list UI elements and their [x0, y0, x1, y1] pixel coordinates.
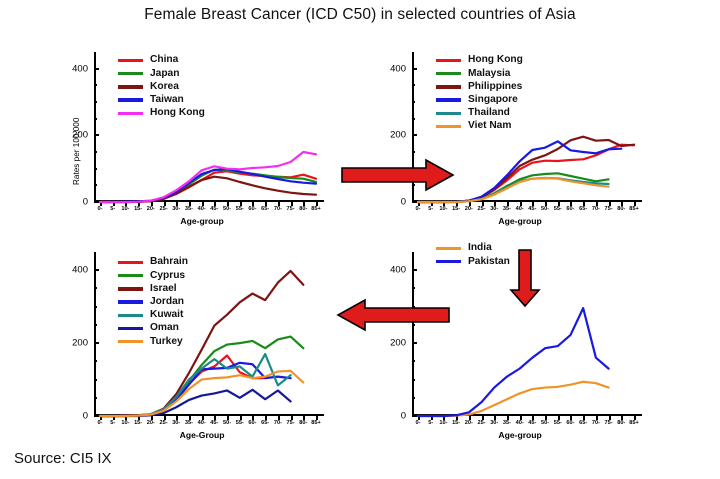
arrow-left-bottom-icon	[336, 298, 451, 332]
series-line	[100, 390, 291, 416]
legend-swatch	[118, 72, 143, 75]
chart-panel-southeast-asia: 02004000-5-10-15-20-25-30-35-40-45-50-55…	[412, 52, 642, 220]
legend-swatch	[436, 260, 461, 263]
legend-item: India	[436, 242, 510, 255]
x-tick-label: 50-	[223, 420, 231, 426]
x-tick-label: 55-	[236, 420, 244, 426]
legend-swatch	[436, 112, 461, 115]
x-tick-label: 65-	[261, 420, 269, 426]
x-tick-label: 45-	[528, 206, 536, 212]
x-tick-label: 30-	[172, 206, 180, 212]
x-tick-label: 60-	[248, 206, 256, 212]
legend-label: Jordan	[150, 297, 184, 307]
x-tick-label: 55-	[554, 206, 562, 212]
y-tick-label: 200	[72, 338, 94, 349]
x-tick-label: 85+	[311, 206, 321, 212]
x-tick-label: 70-	[274, 206, 282, 212]
x-tick-label: 70-	[274, 420, 282, 426]
legend-swatch	[436, 59, 461, 62]
x-tick-label: 65-	[261, 206, 269, 212]
x-tick-label: 30-	[490, 206, 498, 212]
y-tick-label: 0	[83, 411, 94, 422]
legend-swatch	[118, 327, 143, 330]
legend-swatch	[118, 59, 143, 62]
x-tick-label: 15-	[452, 206, 460, 212]
legend-item: Taiwan	[118, 94, 205, 107]
legend-label: Oman	[150, 323, 179, 333]
legend-item: Pakistan	[436, 255, 510, 268]
legend-swatch	[118, 314, 143, 317]
x-tick-label: 40-	[198, 206, 206, 212]
x-tick-label: 40-	[516, 420, 524, 426]
x-tick-label: 45-	[528, 420, 536, 426]
legend-label: Korea	[150, 82, 179, 92]
series-line	[100, 356, 265, 416]
chart-panel-east-asia: 02004000-5-10-15-20-25-30-35-40-45-50-55…	[94, 52, 324, 220]
source-note: Source: CI5 IX	[14, 450, 112, 467]
x-tick-label: 10-	[121, 206, 129, 212]
x-tick-label: 55-	[554, 420, 562, 426]
series-line	[100, 170, 316, 202]
series-line	[100, 171, 316, 202]
x-tick-label: 30-	[490, 420, 498, 426]
y-tick-label: 400	[72, 63, 94, 74]
y-tick-label: 0	[401, 411, 412, 422]
y-tick-label: 0	[401, 197, 412, 208]
x-tick-label: 25-	[477, 206, 485, 212]
legend-swatch	[118, 98, 143, 101]
x-tick-label: 20-	[147, 206, 155, 212]
x-tick-label: 70-	[592, 420, 600, 426]
legend-label: Malaysia	[468, 69, 510, 79]
legend-label: Taiwan	[150, 95, 184, 105]
x-tick-label: 0-	[98, 420, 103, 426]
legend-label: Hong Kong	[468, 55, 523, 65]
x-tick-label: 20-	[465, 206, 473, 212]
chart-legend: ChinaJapanKoreaTaiwanHong Kong	[118, 54, 205, 120]
x-tick-label: 40-	[198, 420, 206, 426]
x-tick-label: 35-	[185, 206, 193, 212]
legend-item: Turkey	[118, 335, 188, 348]
x-axis-label: Age-group	[498, 216, 541, 226]
legend-swatch	[118, 85, 143, 88]
legend-item: Hong Kong	[118, 107, 205, 120]
page-title: Female Breast Cancer (ICD C50) in select…	[0, 6, 720, 24]
y-tick-label: 0	[83, 197, 94, 208]
legend-item: Kuwait	[118, 309, 188, 322]
x-tick-label: 0-	[416, 420, 421, 426]
legend-item: Cyprus	[118, 269, 188, 282]
legend-swatch	[118, 340, 143, 343]
legend-swatch	[436, 125, 461, 128]
x-axis-label: Age-group	[498, 430, 541, 440]
legend-swatch	[118, 300, 143, 303]
x-tick-label: 0-	[416, 206, 421, 212]
x-tick-label: 10-	[439, 206, 447, 212]
y-tick-label: 200	[390, 130, 412, 141]
x-tick-label: 80-	[617, 206, 625, 212]
series-line	[418, 382, 609, 416]
x-tick-label: 85+	[311, 420, 321, 426]
x-tick-label: 25-	[159, 420, 167, 426]
legend-label: Japan	[150, 69, 179, 79]
x-tick-label: 60-	[566, 420, 574, 426]
legend-item: Thailand	[436, 107, 523, 120]
legend-swatch	[436, 72, 461, 75]
x-tick-label: 20-	[147, 420, 155, 426]
x-tick-label: 65-	[579, 420, 587, 426]
legend-label: Turkey	[150, 337, 183, 347]
x-tick-label: 75-	[605, 420, 613, 426]
x-axis-label: Age-Group	[180, 430, 225, 440]
legend-label: Bahrain	[150, 257, 188, 267]
x-tick-label: 60-	[248, 420, 256, 426]
y-axis-label: Rates per 100,000	[72, 118, 81, 185]
legend-label: Thailand	[468, 108, 510, 118]
chart-panel-west-asia: 02004000-5-10-15-20-25-30-35-40-45-50-55…	[94, 252, 324, 434]
slide-canvas: Female Breast Cancer (ICD C50) in select…	[0, 0, 720, 479]
x-tick-label: 65-	[579, 206, 587, 212]
x-tick-label: 30-	[172, 420, 180, 426]
legend-label: Hong Kong	[150, 108, 205, 118]
legend-label: Israel	[150, 284, 177, 294]
x-tick-label: 80-	[299, 420, 307, 426]
x-tick-label: 85+	[629, 420, 639, 426]
y-tick-label: 200	[390, 338, 412, 349]
x-tick-label: 5-	[428, 206, 433, 212]
legend-label: Kuwait	[150, 310, 183, 320]
x-tick-label: 75-	[605, 206, 613, 212]
legend-swatch	[436, 247, 461, 250]
chart-legend: IndiaPakistan	[436, 242, 510, 268]
x-tick-label: 85+	[629, 206, 639, 212]
x-tick-label: 75-	[287, 206, 295, 212]
x-tick-label: 45-	[210, 420, 218, 426]
legend-item: Korea	[118, 80, 205, 93]
legend-item: Philippines	[436, 80, 523, 93]
legend-label: Philippines	[468, 82, 522, 92]
y-tick-label: 400	[72, 265, 94, 276]
legend-item: Viet Nam	[436, 120, 523, 133]
chart-legend: BahrainCyprusIsraelJordanKuwaitOmanTurke…	[118, 256, 188, 348]
x-tick-label: 60-	[566, 206, 574, 212]
x-tick-label: 40-	[516, 206, 524, 212]
legend-label: India	[468, 243, 492, 253]
x-tick-label: 5-	[110, 420, 115, 426]
legend-swatch	[118, 261, 143, 264]
x-tick-label: 25-	[477, 420, 485, 426]
legend-item: Israel	[118, 282, 188, 295]
legend-item: Singapore	[436, 94, 523, 107]
x-tick-label: 55-	[236, 206, 244, 212]
x-tick-label: 35-	[503, 420, 511, 426]
y-tick-label: 400	[390, 63, 412, 74]
chart-legend: Hong KongMalaysiaPhilippinesSingaporeTha…	[436, 54, 523, 133]
x-tick-label: 35-	[503, 206, 511, 212]
x-tick-label: 10-	[439, 420, 447, 426]
x-tick-label: 0-	[98, 206, 103, 212]
x-tick-label: 75-	[287, 420, 295, 426]
x-tick-label: 50-	[223, 206, 231, 212]
x-tick-label: 50-	[541, 420, 549, 426]
x-tick-label: 50-	[541, 206, 549, 212]
legend-item: Japan	[118, 67, 205, 80]
legend-swatch	[118, 112, 143, 115]
y-tick-label: 400	[390, 265, 412, 276]
x-tick-label: 45-	[210, 206, 218, 212]
x-tick-label: 15-	[134, 206, 142, 212]
x-tick-label: 15-	[452, 420, 460, 426]
arrow-down-right-icon	[508, 248, 542, 308]
x-tick-label: 80-	[299, 206, 307, 212]
legend-item: China	[118, 54, 205, 67]
x-tick-label: 25-	[159, 206, 167, 212]
series-line	[100, 363, 291, 416]
legend-label: Singapore	[468, 95, 518, 105]
x-tick-label: 70-	[592, 206, 600, 212]
legend-item: Malaysia	[436, 67, 523, 80]
legend-swatch	[118, 274, 143, 277]
x-axis-label: Age-group	[180, 216, 223, 226]
x-tick-label: 35-	[185, 420, 193, 426]
legend-swatch	[436, 85, 461, 88]
x-tick-label: 20-	[465, 420, 473, 426]
series-line	[100, 169, 316, 202]
legend-label: China	[150, 55, 178, 65]
legend-label: Pakistan	[468, 257, 510, 267]
legend-item: Oman	[118, 322, 188, 335]
x-tick-label: 5-	[428, 420, 433, 426]
legend-label: Cyprus	[150, 271, 185, 281]
x-tick-label: 80-	[617, 420, 625, 426]
arrow-right-top-icon	[340, 158, 455, 192]
legend-swatch	[118, 287, 143, 290]
legend-item: Jordan	[118, 296, 188, 309]
x-tick-label: 5-	[110, 206, 115, 212]
legend-item: Bahrain	[118, 256, 188, 269]
legend-label: Viet Nam	[468, 121, 511, 131]
x-tick-label: 10-	[121, 420, 129, 426]
legend-item: Hong Kong	[436, 54, 523, 67]
legend-swatch	[436, 98, 461, 101]
x-tick-label: 15-	[134, 420, 142, 426]
